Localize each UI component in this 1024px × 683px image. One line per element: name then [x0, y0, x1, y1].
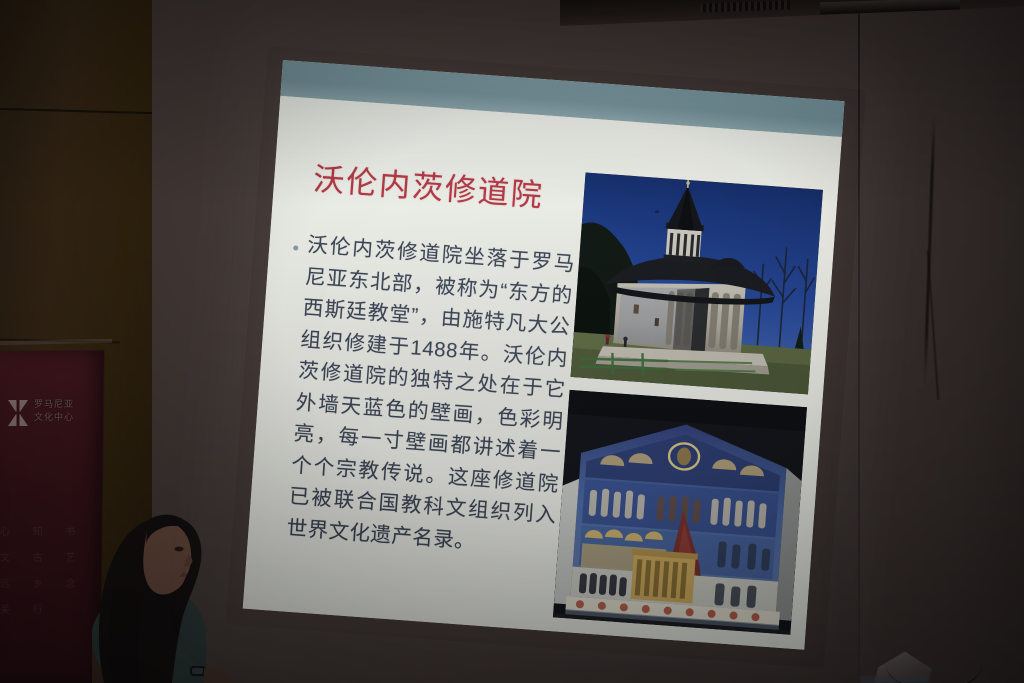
projected-slide: 沃伦内茨修道院 沃伦内茨修道院坐落于罗马尼亚东北部，被称为“东方的西斯廷教堂”，… — [243, 60, 845, 650]
monastery-exterior-photo — [571, 172, 823, 394]
banner-org-line2: 文化中心 — [34, 411, 96, 424]
photo-scene: 罗马尼亚 文化中心 心 知 书 文 古 艺 远 乡 念 美 行 — [0, 0, 1024, 683]
wall-corner — [858, 0, 860, 683]
desk-edge — [860, 676, 930, 683]
slide-surface: 沃伦内茨修道院 沃伦内茨修道院坐落于罗马尼亚东北部，被称为“东方的西斯廷教堂”，… — [243, 60, 845, 650]
slide-title: 沃伦内茨修道院 — [312, 161, 545, 216]
slide-content-area: 沃伦内茨修道院 沃伦内茨修道院坐落于罗马尼亚东北部，被称为“东方的西斯廷教堂”，… — [243, 96, 842, 650]
slide-body-text: 沃伦内茨修道院坐落于罗马尼亚东北部，被称为“东方的西斯廷教堂”，由施特凡大公组织… — [286, 229, 576, 563]
last-judgment-fresco-photo — [553, 390, 807, 635]
presenter — [78, 470, 258, 683]
hourglass-x-logo-icon — [6, 398, 30, 428]
banner-org-line1: 罗马尼亚 — [34, 398, 96, 411]
bullet-marker-icon — [293, 245, 298, 250]
banner-organisation-text: 罗马尼亚 文化中心 — [34, 398, 96, 424]
side-wall — [860, 0, 1024, 683]
